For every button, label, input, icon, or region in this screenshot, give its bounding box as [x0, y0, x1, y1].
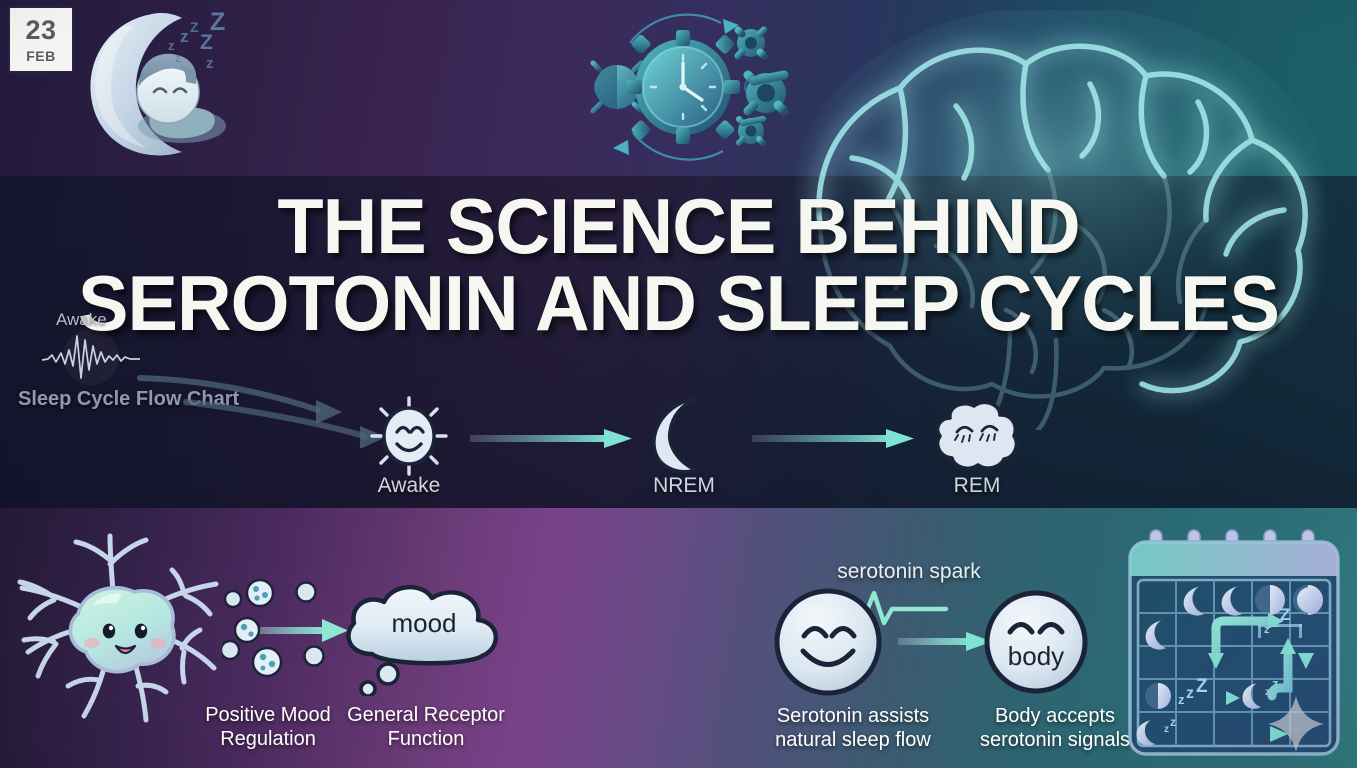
- sleeping-baby-on-moon-icon: z z Z Z Z z z: [82, 4, 252, 164]
- page-title-line2: SEROTONIN AND SLEEP CYCLES: [20, 265, 1336, 342]
- sleeping-brain-icon: [930, 398, 1024, 474]
- flow-step-label-rem: REM: [897, 474, 1057, 498]
- date-badge-day: 23: [25, 17, 56, 44]
- svg-text:z: z: [175, 51, 181, 65]
- cloud-text-mood: mood: [336, 608, 512, 639]
- svg-text:z: z: [1178, 692, 1185, 707]
- svg-text:z: z: [180, 27, 189, 46]
- crescent-moon-icon: [648, 392, 722, 476]
- flow-arrow-1-icon: [470, 424, 640, 454]
- caption-receptor-function-line2: Function: [330, 727, 522, 751]
- infographic-canvas: 23 FEB z: [0, 0, 1357, 768]
- page-title: THE SCIENCE BEHIND SEROTONIN AND SLEEP C…: [20, 188, 1336, 342]
- sleep-calendar-icon: z z Z z z z z Z z z: [1120, 528, 1348, 764]
- svg-text:z: z: [1186, 685, 1194, 702]
- svg-text:z: z: [168, 38, 175, 53]
- serotonin-spark-label: serotonin spark: [770, 560, 1048, 584]
- caption-receptor-function-line1: General Receptor: [330, 703, 522, 727]
- flow-arrow-2-icon: [752, 424, 922, 454]
- caption-receptor-function: General Receptor Function: [330, 703, 522, 752]
- date-badge-month: FEB: [26, 49, 56, 63]
- page-title-line1: THE SCIENCE BEHIND: [277, 182, 1079, 270]
- svg-text:Z: Z: [190, 19, 199, 35]
- flow-step-label-awake: Awake: [329, 474, 489, 498]
- smiling-sun-face-icon: [366, 396, 452, 476]
- caption-serotonin-assists: Serotonin assists natural sleep flow: [740, 704, 966, 753]
- date-badge: 23 FEB: [8, 6, 74, 73]
- flow-step-label-nrem: NREM: [604, 474, 764, 498]
- svg-text:z: z: [1164, 724, 1169, 735]
- svg-text:Z: Z: [210, 8, 225, 36]
- face-text-body: body: [982, 641, 1090, 672]
- caption-serotonin-assists-line1: Serotonin assists: [740, 704, 966, 728]
- svg-text:z: z: [206, 55, 214, 72]
- caption-serotonin-assists-line2: natural sleep flow: [740, 728, 966, 752]
- svg-text:z: z: [1170, 715, 1176, 729]
- circadian-clock-gears-icon: [555, 5, 815, 170]
- smiling-face-icon: [772, 586, 884, 698]
- svg-text:Z: Z: [1196, 676, 1208, 697]
